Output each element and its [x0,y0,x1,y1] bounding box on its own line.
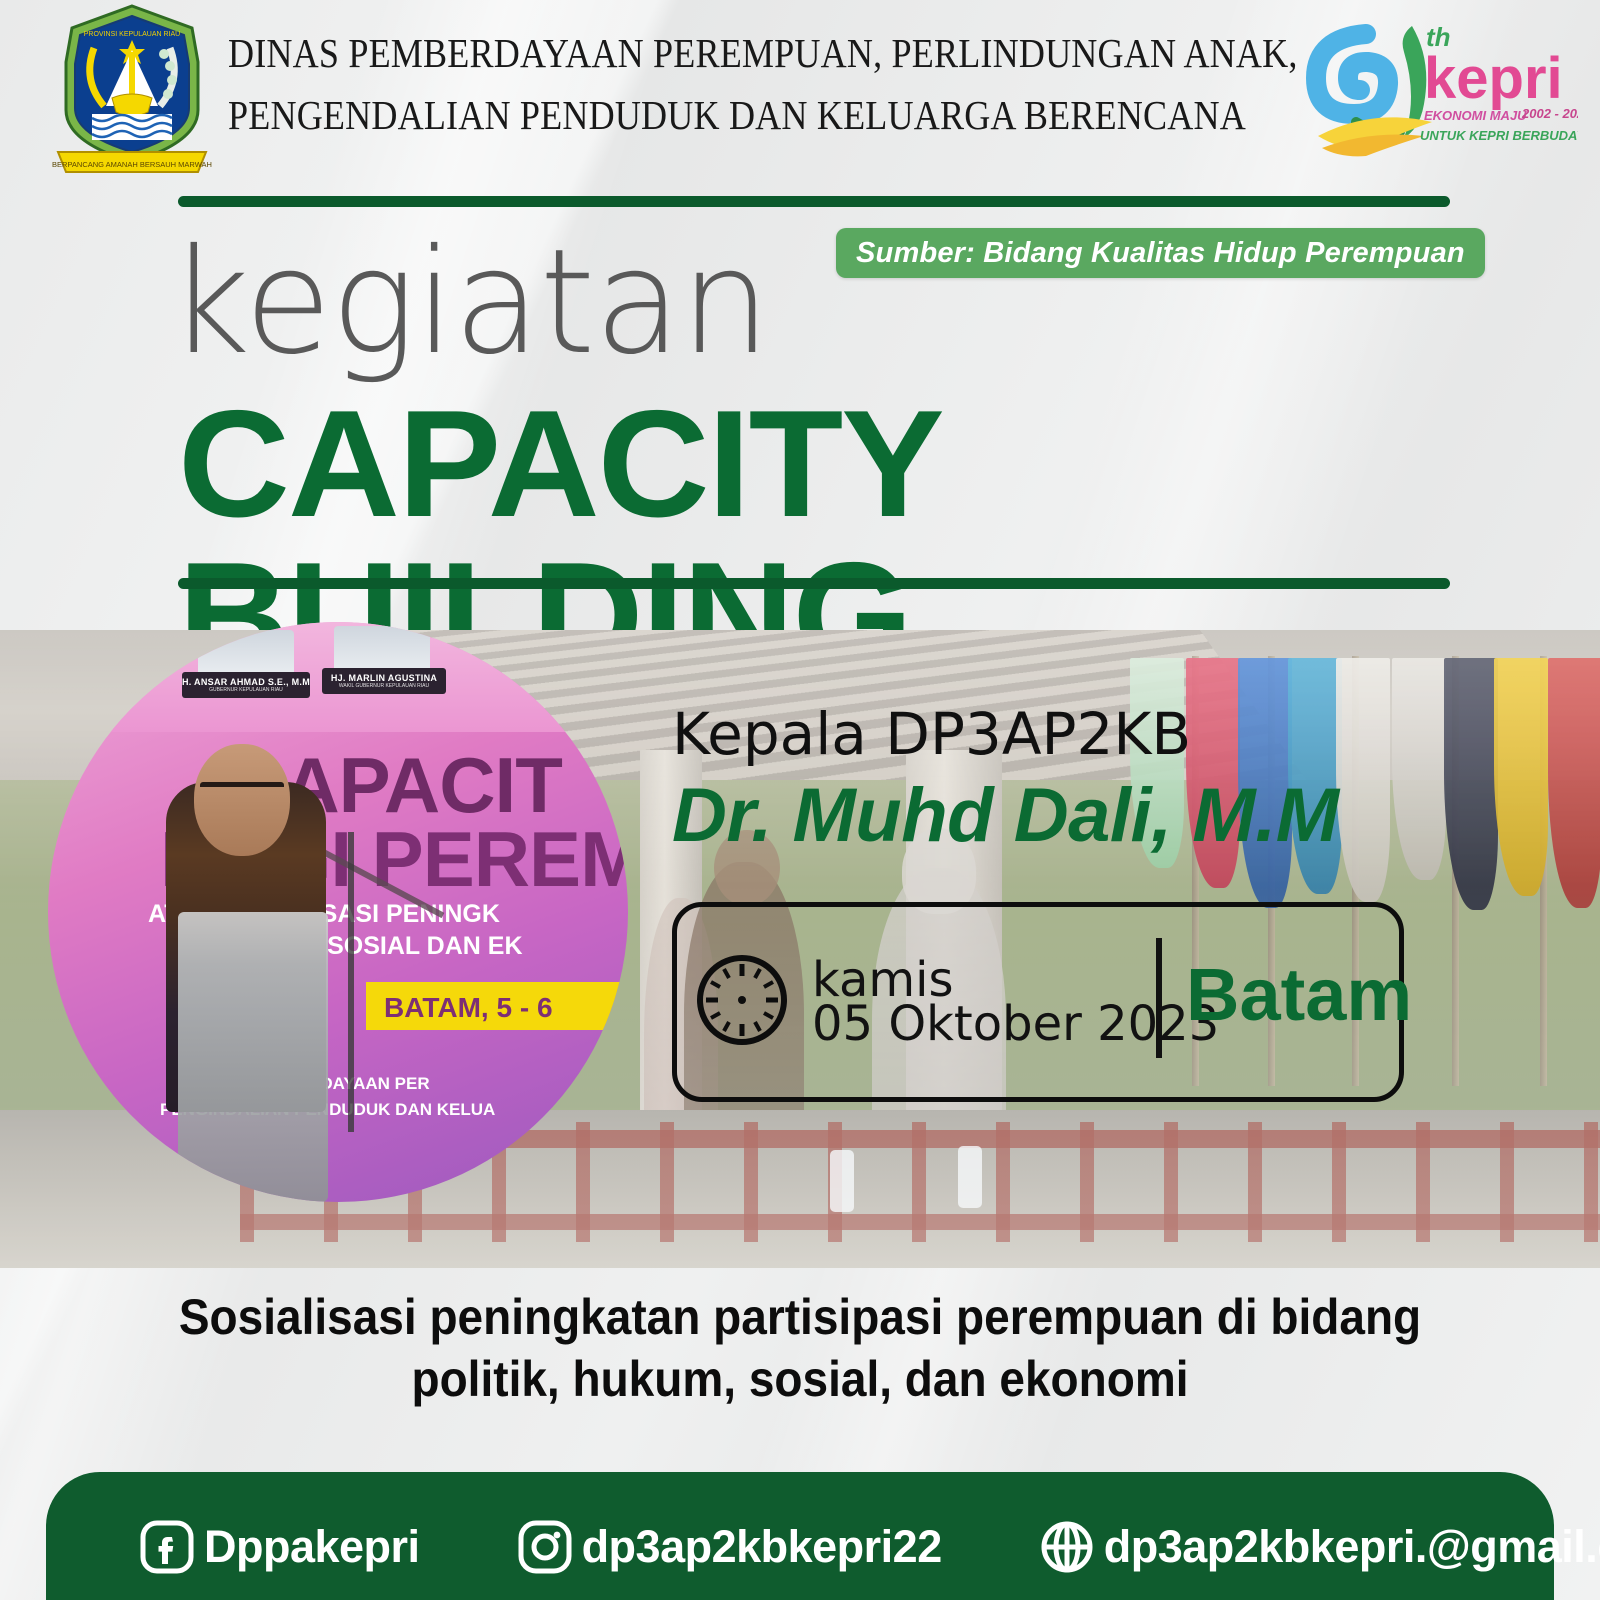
footer-email-address: dp3ap2kbkepri.@gmail.com [1104,1521,1600,1573]
kepri-years: 2002 - 2023 [1521,106,1578,121]
footer-instagram[interactable]: dp3ap2kbkepri22 [518,1520,942,1574]
microphone-stand [348,832,354,1132]
caption-line-1: Sosialisasi peningkatan partisipasi pere… [64,1286,1536,1348]
footer-facebook-handle: Dppakepri [204,1521,420,1573]
source-badge: Sumber: Bidang Kualitas Hidup Perempuan [836,228,1485,278]
nameplate-governor-name: H. ANSAR AHMAD S.E., M.M [182,677,310,687]
crest-motto: BERPANCANG AMANAH BERSAUH MARWAH [52,160,212,169]
speaker-name-label: Dr. Muhd Dali, M.M [672,772,1339,859]
nameplate-vice-governor: HJ. MARLIN AGUSTINA WAKIL GUBERNUR KEPUL… [322,668,446,694]
source-badge-label: Sumber: Bidang Kualitas Hidup Perempuan [856,237,1465,270]
kepri-tagline-1: EKONOMI MAJU [1424,108,1527,123]
kepri-province-crest-icon: PROVINSI KEPULAUAN RIAU BERPANCANG AMANA… [52,2,212,174]
globe-icon [1040,1520,1094,1574]
nameplate-governor-title: GUBERNUR KEPULAUAN RIAU [209,687,283,693]
event-place-label: Batam [1186,952,1412,1037]
speaker-role-label: Kepala DP3AP2KB [672,700,1191,768]
page-title-kegiatan: kegiatan [168,230,770,375]
footer-contact-bar: Dppakepri dp3ap2kbkepri22 [46,1472,1554,1600]
header-line-1: DINAS PEMBERDAYAAN PEREMPUAN, PERLINDUNG… [228,22,1161,84]
caption-line-2: politik, hukum, sosial, dan ekonomi [64,1348,1536,1410]
title-rule-top [178,196,1450,207]
info-divider [1156,938,1162,1058]
instagram-icon [518,1520,572,1574]
title-rule-bottom [178,578,1450,589]
banner-location-label: BATAM, 5 - 6 [384,992,553,1024]
officials-portrait [334,626,430,668]
circular-inset-photo: H. ANSAR AHMAD S.E., M.M GUBERNUR KEPULA… [48,622,628,1222]
kepri-tagline-2: UNTUK KEPRI BERBUDAYA [1420,128,1578,143]
kepri-wordmark: kepri [1424,46,1563,111]
svg-text:PROVINSI KEPULAUAN RIAU: PROVINSI KEPULAUAN RIAU [84,31,180,38]
clock-icon [696,954,788,1046]
caption: Sosialisasi peningkatan partisipasi pere… [0,1286,1600,1410]
nameplate-vice-governor-title: WAKIL GUBERNUR KEPULAUAN RIAU [339,683,429,689]
officials-portrait [198,630,294,672]
podium [178,912,328,1202]
facebook-icon [140,1520,194,1574]
footer-email[interactable]: dp3ap2kbkepri.@gmail.com [1040,1520,1600,1574]
header: PROVINSI KEPULAUAN RIAU BERPANCANG AMANA… [0,0,1600,180]
header-line-2: PENGENDALIAN PENDUDUK DAN KELUARGA BEREN… [228,84,1161,146]
footer-facebook[interactable]: Dppakepri [140,1520,420,1574]
kepri-anniversary-logo-icon: th kepri EKONOMI MAJU 2002 - 2023 UNTUK … [1300,12,1578,160]
nameplate-vice-governor-name: HJ. MARLIN AGUSTINA [331,673,437,683]
speaker-glasses [200,782,284,801]
nameplate-governor: H. ANSAR AHMAD S.E., M.M GUBERNUR KEPULA… [182,672,310,698]
footer-instagram-handle: dp3ap2kbkepri22 [582,1521,942,1573]
header-title-block: DINAS PEMBERDAYAAN PEREMPUAN, PERLINDUNG… [228,22,1288,146]
poster-root: PROVINSI KEPULAUAN RIAU BERPANCANG AMANA… [0,0,1600,1600]
